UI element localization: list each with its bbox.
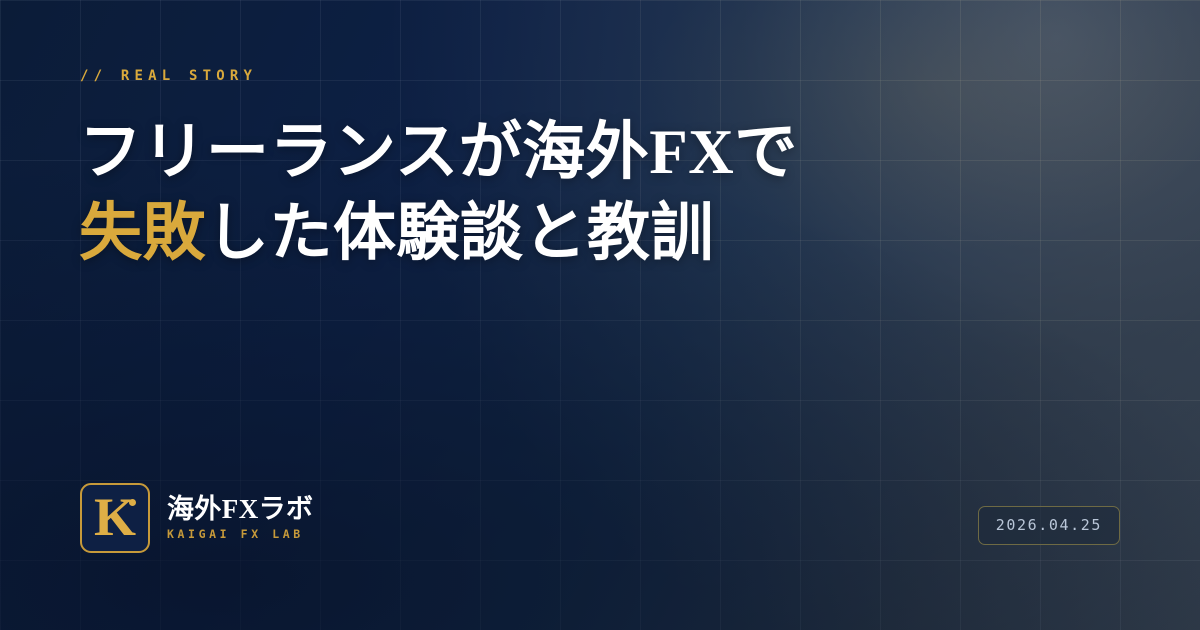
page-title: フリーランスが海外FXで 失敗した体験談と教訓 — [79, 112, 1079, 274]
card-content: // REAL STORY フリーランスが海外FXで 失敗した体験談と教訓 K … — [0, 0, 1200, 630]
brand-name: 海外FXラボ — [167, 495, 313, 524]
headline-rest-text: した体験談と教訓 — [206, 198, 714, 268]
brand-text-block: 海外FXラボ KAIGAI FX LAB — [167, 495, 313, 541]
headline-line-2: 失敗した体験談と教訓 — [79, 193, 1079, 274]
date-badge: 2026.04.25 — [978, 506, 1120, 545]
logo-accent-dot-icon — [129, 499, 136, 506]
brand-subtitle: KAIGAI FX LAB — [167, 527, 313, 541]
headline-accent-text: 失敗 — [79, 198, 206, 268]
brand-logo-letter: K — [82, 490, 148, 544]
og-card: // REAL STORY フリーランスが海外FXで 失敗した体験談と教訓 K … — [0, 0, 1200, 630]
headline-line-1: フリーランスが海外FXで — [79, 112, 1079, 193]
brand-lockup[interactable]: K 海外FXラボ KAIGAI FX LAB — [80, 483, 313, 553]
eyebrow-label: // REAL STORY — [80, 68, 257, 84]
brand-logo-mark: K — [80, 483, 150, 553]
